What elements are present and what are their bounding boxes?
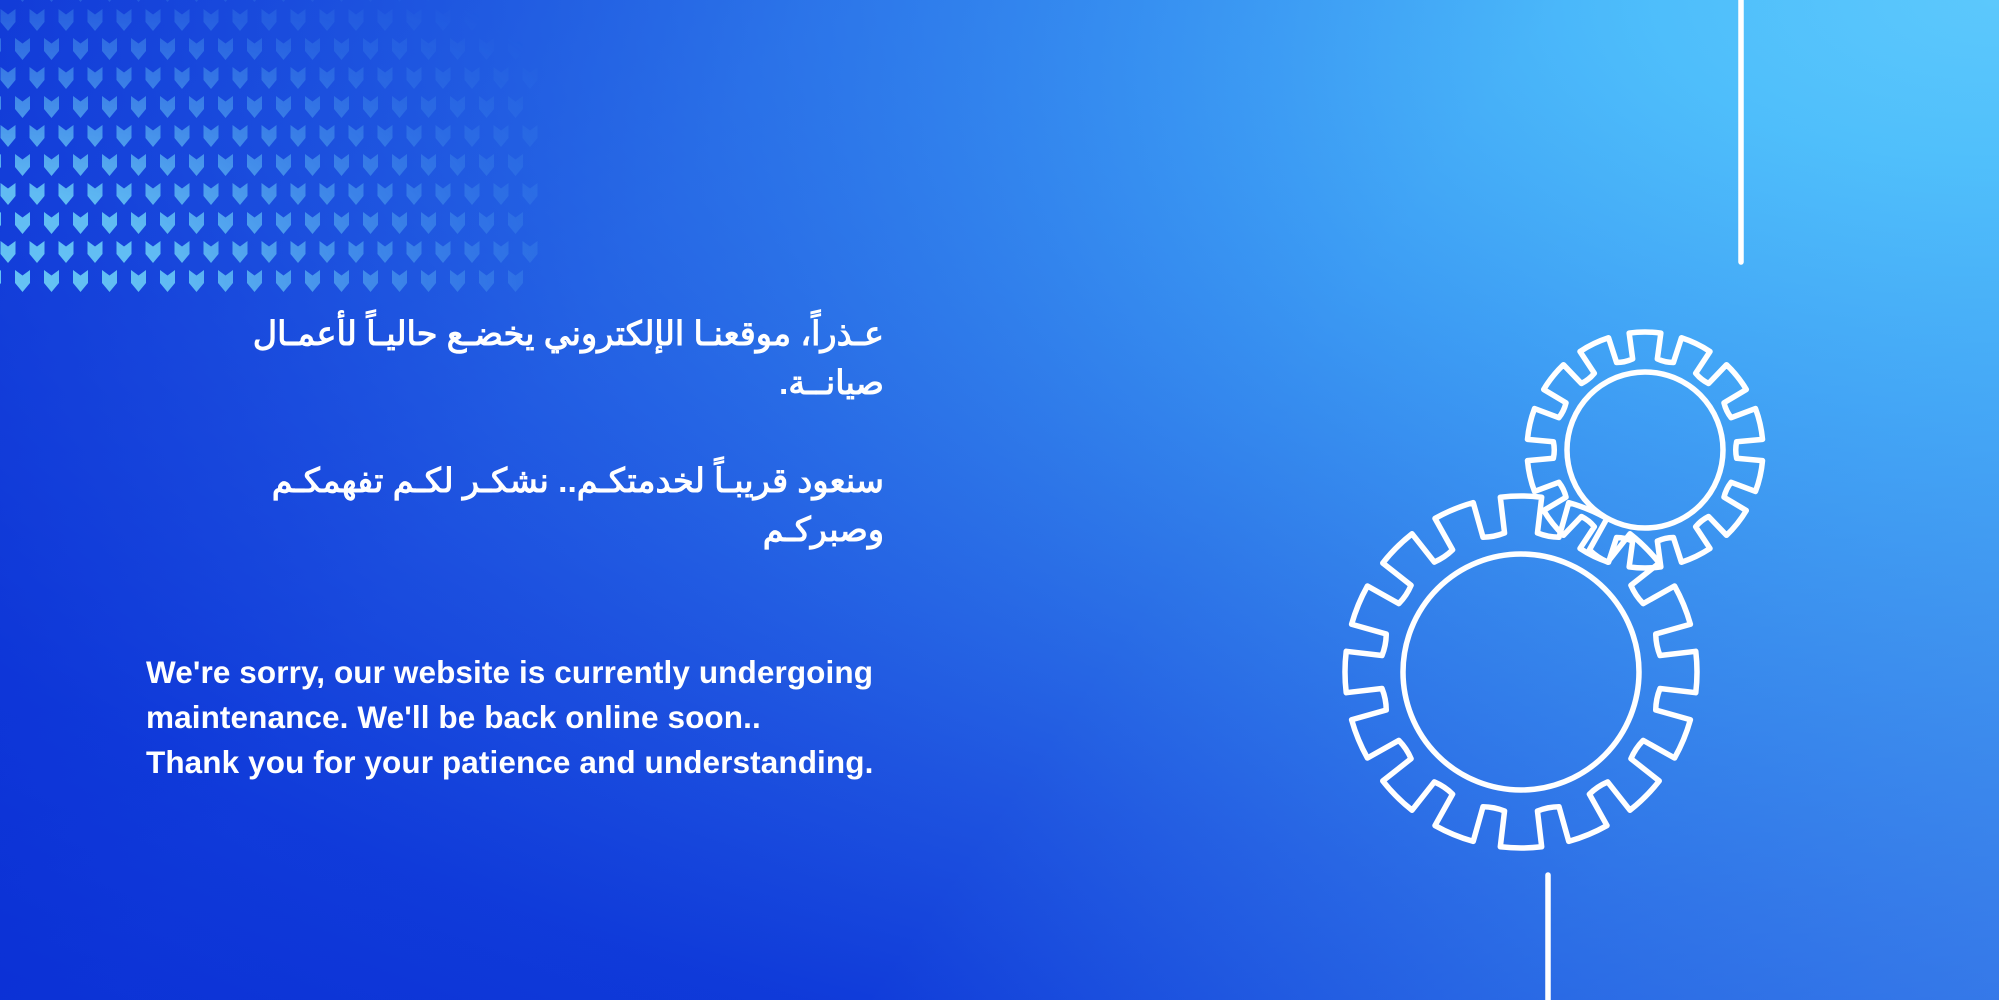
arabic-line-2: سنعود قريبـاً لخدمتكـم.. نشكـر لكـم تفهم…	[146, 458, 884, 556]
gear-large-bottom	[1345, 496, 1697, 848]
english-line-2: maintenance. We'll be back online soon..	[146, 695, 1046, 740]
maintenance-page: عـذراً، موقعنـا الإلكتروني يخضـع حاليـاً…	[0, 0, 1999, 1000]
english-line-3: Thank you for your patience and understa…	[146, 740, 1046, 785]
gear-small-hub	[1567, 372, 1723, 528]
arabic-message: عـذراً، موقعنـا الإلكتروني يخضـع حاليـاً…	[146, 262, 884, 604]
message-block: عـذراً، موقعنـا الإلكتروني يخضـع حاليـاً…	[146, 262, 1046, 785]
chevron-dot-pattern	[0, 0, 542, 304]
gear-small-top	[1527, 332, 1762, 568]
gear-large-hub	[1403, 554, 1639, 790]
english-message: We're sorry, our website is currently un…	[146, 650, 1046, 784]
arabic-line-1: عـذراً، موقعنـا الإلكتروني يخضـع حاليـاً…	[146, 311, 884, 409]
english-line-1: We're sorry, our website is currently un…	[146, 650, 1046, 695]
